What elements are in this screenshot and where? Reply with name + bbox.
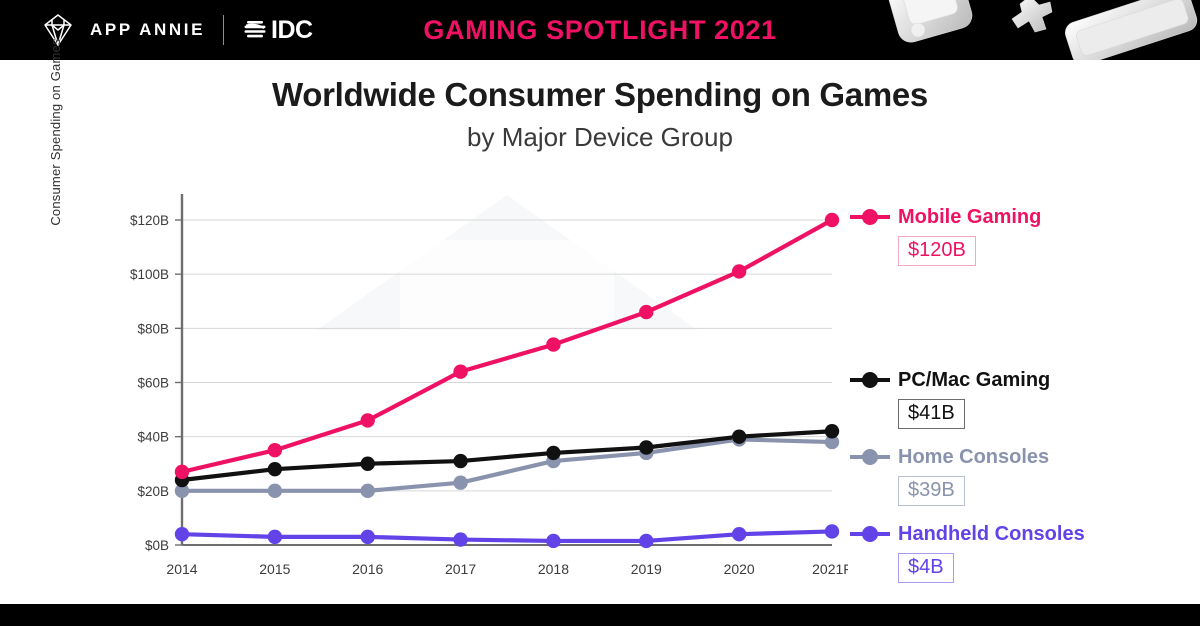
data-point — [546, 534, 560, 548]
x-axis-tick-label: 2014 — [166, 561, 197, 577]
data-point — [825, 213, 839, 227]
page-header: APP ANNIE IDC GAMING SPOTLIGHT 2021 — [0, 0, 1200, 60]
line-dot-marker-icon — [848, 446, 892, 468]
data-point — [268, 462, 282, 476]
data-point — [732, 429, 746, 443]
x-axis-tick-label: 2018 — [538, 561, 569, 577]
data-point — [825, 424, 839, 438]
data-point — [361, 457, 375, 471]
data-point — [361, 530, 375, 544]
data-point — [268, 530, 282, 544]
page-footer-bar — [0, 604, 1200, 626]
y-axis-tick-label: $20B — [137, 484, 169, 499]
y-axis-tick-label: $60B — [137, 376, 169, 391]
legend-label: Handheld Consoles — [898, 523, 1085, 546]
line-dot-marker-icon — [848, 523, 892, 545]
y-axis-tick-label: $100B — [130, 267, 169, 282]
legend-label: Home Consoles — [898, 446, 1049, 469]
data-point — [453, 532, 467, 546]
x-axis-tick-label: 2020 — [724, 561, 755, 577]
data-point — [453, 364, 467, 378]
data-point — [546, 446, 560, 460]
x-axis-tick-label: 2019 — [631, 561, 662, 577]
chart-subtitle: by Major Device Group — [0, 122, 1200, 153]
chart-title: Worldwide Consumer Spending on Games — [0, 76, 1200, 114]
data-point — [268, 484, 282, 498]
data-point — [732, 264, 746, 278]
y-axis-tick-label: $40B — [137, 430, 169, 445]
data-point — [453, 454, 467, 468]
data-point — [268, 443, 282, 457]
data-point — [453, 476, 467, 490]
chart-legend: Mobile Gaming $120B PC/Mac Gaming $41B H… — [848, 196, 1200, 596]
x-axis-tick-label: 2017 — [445, 561, 476, 577]
legend-value-badge: $39B — [898, 476, 965, 506]
x-axis-tick-label: 2021F — [812, 561, 848, 577]
data-point — [546, 337, 560, 351]
line-dot-marker-icon — [848, 369, 892, 391]
data-point — [361, 413, 375, 427]
data-point — [175, 527, 189, 541]
data-point — [175, 465, 189, 479]
game-devices-illustration — [870, 0, 1200, 60]
x-axis-tick-label: 2016 — [352, 561, 383, 577]
data-point — [639, 534, 653, 548]
data-point — [361, 484, 375, 498]
y-axis-tick-label: $80B — [137, 321, 169, 336]
data-point — [825, 524, 839, 538]
y-axis-tick-label: $120B — [130, 213, 169, 228]
legend-value-badge: $120B — [898, 236, 976, 266]
data-point — [732, 527, 746, 541]
y-axis-tick-label: $0B — [145, 538, 169, 553]
legend-label: PC/Mac Gaming — [898, 369, 1050, 392]
legend-value-badge: $4B — [898, 553, 954, 583]
legend-label: Mobile Gaming — [898, 206, 1041, 229]
line-chart-svg: $0B$20B$40B$60B$80B$100B$120B20142015201… — [0, 170, 848, 595]
data-point — [639, 305, 653, 319]
line-dot-marker-icon — [848, 206, 892, 228]
data-point — [639, 440, 653, 454]
legend-value-badge: $41B — [898, 399, 965, 429]
x-axis-tick-label: 2015 — [259, 561, 290, 577]
